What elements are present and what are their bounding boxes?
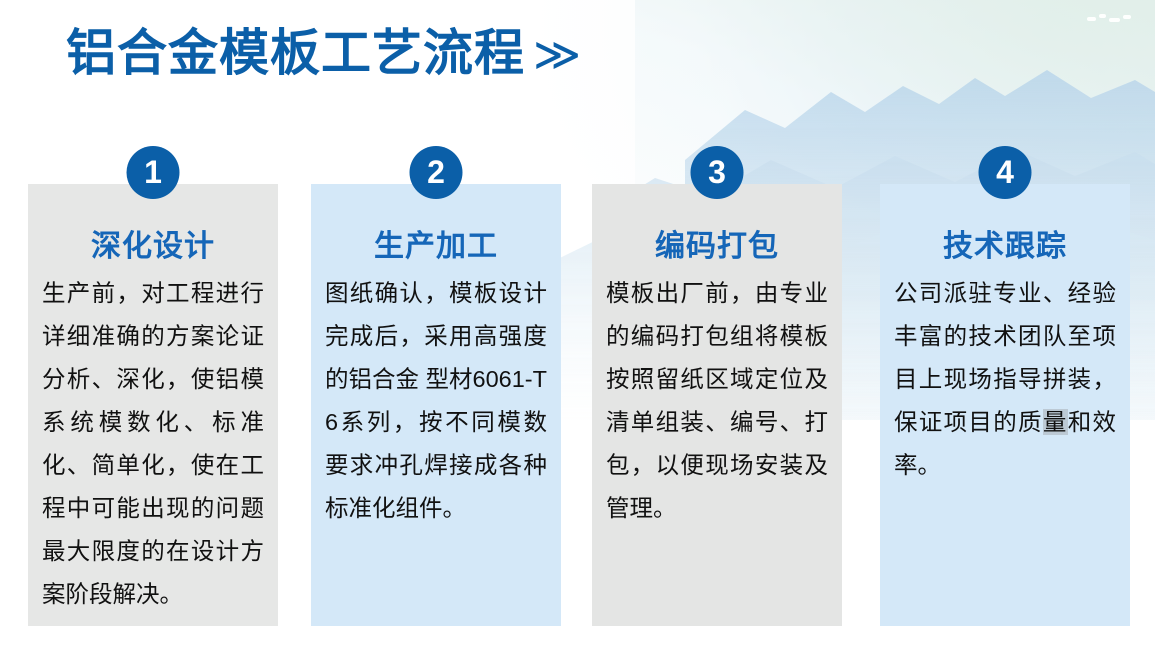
process-step-card-2[interactable]: 2 生产加工 图纸确认，模板设计完成后，采用高强度的铝合金 型材6061-T6系… [311,184,561,626]
slide-canvas: 铝合金模板工艺流程 ≫ 1 深化设计 生产前，对工程进行详细准确的方案论证分析、… [0,0,1155,648]
process-step-card-4[interactable]: 4 技术跟踪 公司派驻专业、经验丰富的技术团队至项目上现场指导拼装，保证项目的质… [880,184,1130,626]
cloud-accent-icon [1087,14,1133,26]
step-body-3: 模板出厂前，由专业的编码打包组将模板按照留纸区域定位及清单组装、编号、打包，以便… [606,272,828,530]
step-body-2: 图纸确认，模板设计完成后，采用高强度的铝合金 型材6061-T6系列，按不同模数… [325,272,547,530]
page-title: 铝合金模板工艺流程 ≫ [66,24,581,82]
process-step-list: 1 深化设计 生产前，对工程进行详细准确的方案论证分析、深化，使铝模系统模数化、… [28,184,1128,626]
process-step-card-1[interactable]: 1 深化设计 生产前，对工程进行详细准确的方案论证分析、深化，使铝模系统模数化、… [28,184,278,626]
step-number-badge-4: 4 [979,146,1032,199]
step-number-badge-3: 3 [691,146,744,199]
step-heading-2: 生产加工 [325,228,547,266]
double-chevron-right-icon: ≫ [533,28,581,80]
step-heading-3: 编码打包 [606,228,828,266]
step-heading-1: 深化设计 [42,228,264,266]
step-number-badge-2: 2 [410,146,463,199]
step-body-4-highlight: 量 [1043,409,1068,435]
step-number-badge-1: 1 [127,146,180,199]
step-body-4: 公司派驻专业、经验丰富的技术团队至项目上现场指导拼装，保证项目的质量和效率。 [894,272,1116,487]
step-heading-4: 技术跟踪 [894,228,1116,266]
step-body-1: 生产前，对工程进行详细准确的方案论证分析、深化，使铝模系统模数化、标准化、简单化… [42,272,264,616]
process-step-card-3[interactable]: 3 编码打包 模板出厂前，由专业的编码打包组将模板按照留纸区域定位及清单组装、编… [592,184,842,626]
page-title-text: 铝合金模板工艺流程 [66,24,525,82]
